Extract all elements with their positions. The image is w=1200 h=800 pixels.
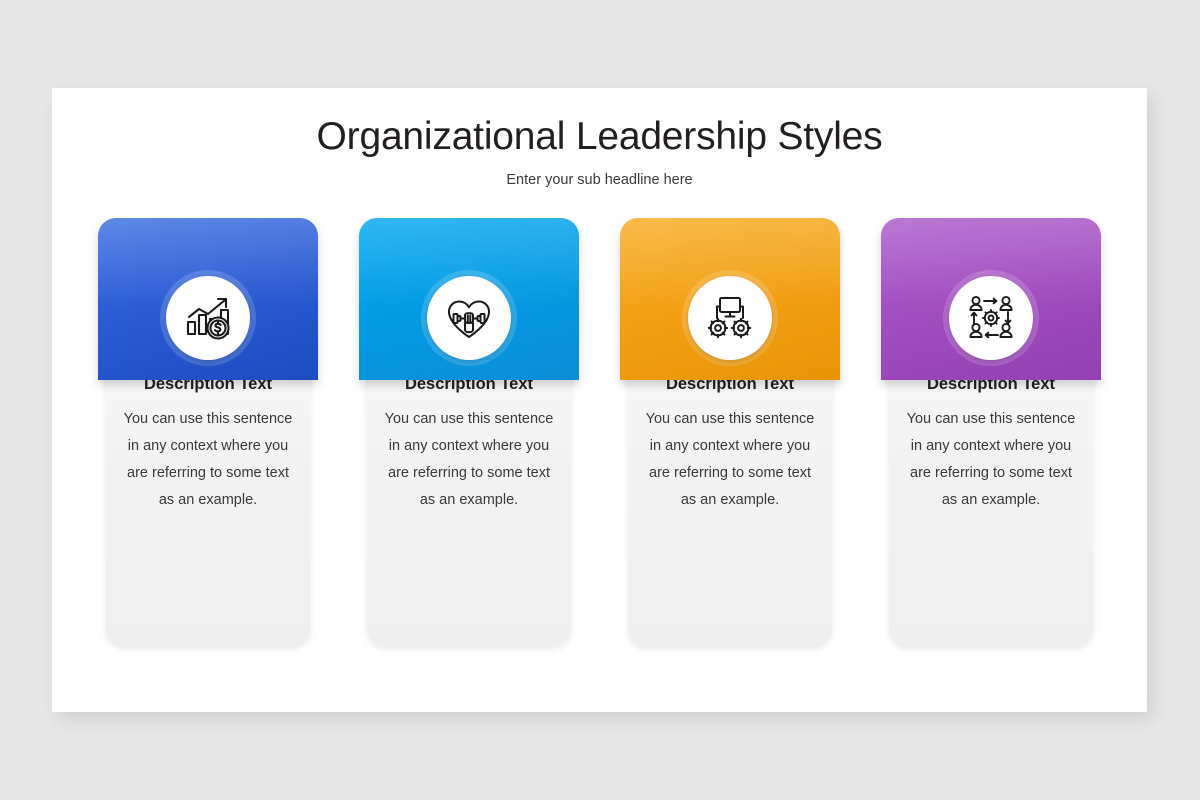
card-description-2: You can use this sentence in any context… [379,406,559,514]
card-description-1: You can use this sentence in any context… [118,406,298,514]
card-header-4 [881,218,1101,380]
growth-chart-dollar-icon [166,276,250,360]
card-description-3: You can use this sentence in any context… [640,406,820,514]
info-card-2[interactable]: Description Text You can use this senten… [359,218,579,658]
card-description-4: You can use this sentence in any context… [901,406,1081,514]
card-header-3 [620,218,840,380]
info-card-4[interactable]: Description Text You can use this senten… [881,218,1101,658]
cards-row: Description Text You can use this senten… [52,218,1147,658]
monitor-gears-icon [688,276,772,360]
info-card-1[interactable]: Description Text You can use this senten… [98,218,318,658]
card-header-1 [98,218,318,380]
card-header-2 [359,218,579,380]
page-title: Organizational Leadership Styles [52,116,1147,159]
slide-canvas: Organizational Leadership Styles Enter y… [52,88,1147,712]
info-card-3[interactable]: Description Text You can use this senten… [620,218,840,658]
team-gear-collaboration-icon [949,276,1033,360]
page-subtitle: Enter your sub headline here [52,172,1147,188]
heart-dumbbell-icon [427,276,511,360]
